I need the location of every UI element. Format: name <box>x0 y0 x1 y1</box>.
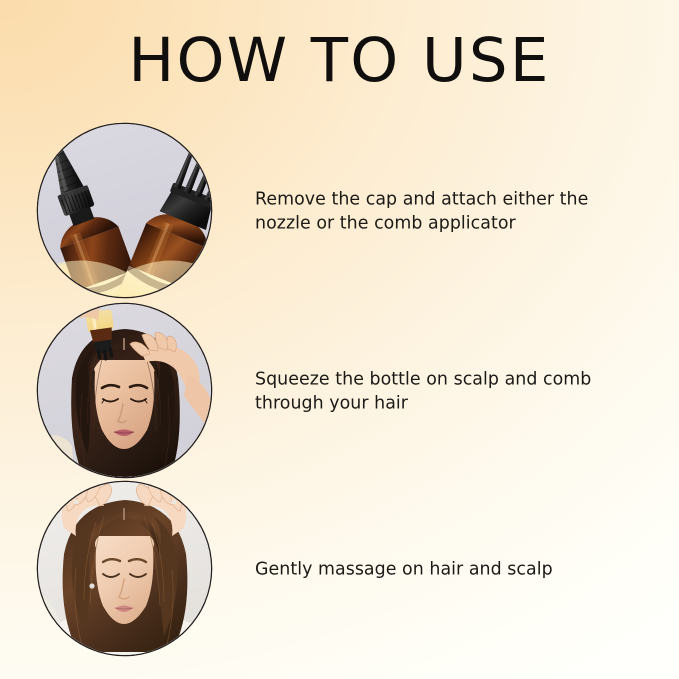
how-to-use-infographic: HOW TO USE <box>0 0 679 679</box>
bottles-with-nozzle-and-comb-applicator-illustration <box>38 124 211 297</box>
step-2-text: Squeeze the bottle on scalp and comb thr… <box>255 367 615 416</box>
step-2: Squeeze the bottle on scalp and comb thr… <box>0 304 679 479</box>
page-title: HOW TO USE <box>0 30 679 91</box>
step-3-text: Gently massage on hair and scalp <box>255 557 615 582</box>
woman-massaging-scalp-illustration <box>38 482 211 655</box>
step-3: Gently massage on hair and scalp <box>0 482 679 657</box>
step-1-text: Remove the cap and attach either the noz… <box>255 187 615 236</box>
step-2-image <box>38 304 211 477</box>
woman-applying-product-to-scalp-illustration <box>38 304 211 477</box>
step-1: Remove the cap and attach either the noz… <box>0 124 679 299</box>
step-1-image <box>38 124 211 297</box>
step-3-image <box>38 482 211 655</box>
